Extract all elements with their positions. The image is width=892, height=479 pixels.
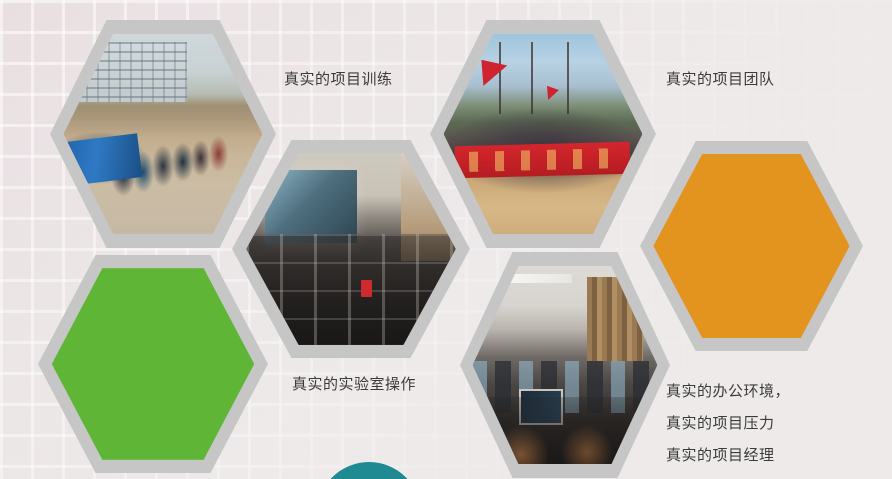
hexagon-green-block[interactable] (38, 255, 268, 473)
photo-small-red-flag-detail (547, 86, 559, 100)
caption-office-line-1: 真实的办公环境， (666, 376, 790, 408)
outdoor-group-pushups-training-photo (64, 34, 263, 235)
photo-blue-banner-detail (64, 133, 142, 186)
outdoor-group-team-banner-photo (444, 34, 643, 235)
caption-team: 真实的项目团队 (666, 64, 775, 96)
hexagon-office-photo-clip (473, 266, 658, 465)
hexagon-training-photo-clip (64, 34, 263, 235)
photo-tree-detail (499, 42, 501, 114)
photo-chairs-detail (473, 397, 658, 465)
hexagon-training-photo[interactable] (50, 20, 276, 248)
classroom-lab-projector-photo (246, 153, 455, 345)
photo-curtain-detail (587, 277, 642, 361)
photo-desks-detail (246, 234, 455, 345)
caption-training: 真实的项目训练 (284, 64, 393, 96)
caption-office-line-3: 真实的项目经理 (666, 440, 790, 472)
photo-red-cup-detail (361, 280, 371, 297)
caption-lab: 真实的实验室操作 (292, 369, 416, 401)
hexagon-lab-photo-clip (246, 153, 455, 345)
hexagon-office-photo[interactable] (460, 252, 670, 478)
hexagon-team-photo-clip (444, 34, 643, 235)
hexagon-team-photo[interactable] (430, 20, 656, 248)
caption-office-block: 真实的办公环境， 真实的项目压力 真实的项目经理 (666, 376, 790, 472)
teal-circle-decoration (317, 462, 421, 479)
photo-projector-screen-detail (265, 170, 357, 243)
slide-canvas: 真实的项目训练 真实的项目团队 真实的实验室操作 真实的办公环境， 真实的项目压… (0, 0, 892, 479)
photo-tree-detail (567, 42, 569, 114)
caption-office-line-2: 真实的项目压力 (666, 408, 790, 440)
hexagon-orange-block[interactable] (640, 141, 863, 351)
hexagon-orange-block-fill (653, 154, 849, 339)
photo-red-flag-detail (481, 60, 507, 86)
hexagon-green-block-fill (52, 268, 254, 460)
photo-building-detail (75, 42, 186, 102)
hexagon-lab-photo[interactable] (232, 140, 470, 358)
open-office-workstations-photo (473, 266, 658, 465)
photo-red-banner-detail (455, 142, 631, 179)
photo-ceiling-light-detail (487, 274, 572, 284)
photo-tree-detail (531, 42, 533, 114)
